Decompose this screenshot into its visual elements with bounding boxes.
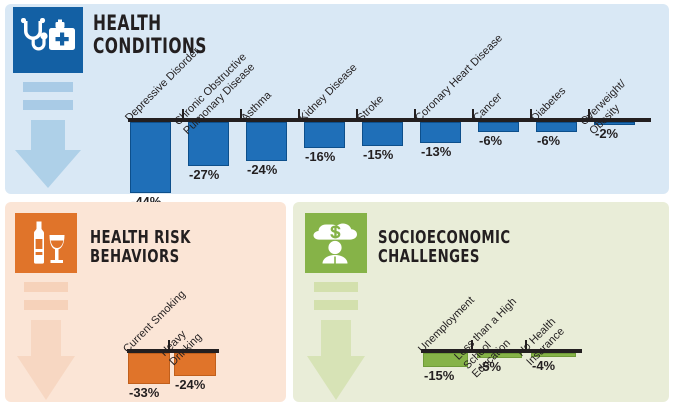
wine-bottle-glass-icon xyxy=(15,213,77,273)
chart-bar-value: -24% xyxy=(247,162,277,177)
down-arrow-health xyxy=(13,78,83,190)
chart-bar xyxy=(536,122,577,132)
chart-bar xyxy=(128,353,170,384)
panel-title-socio: SOCIOECONOMIC CHALLENGES xyxy=(378,228,511,267)
chart-bar-value: -13% xyxy=(421,144,451,159)
chart-bar-value: -16% xyxy=(305,149,335,164)
chart-socioeconomic-challenges: -15%Unemployment-5%Less than a High Scho… xyxy=(421,349,582,401)
down-arrow-risk xyxy=(15,278,77,402)
infographic-root: HEALTH CONDITIONS -44%Depressive Disorde… xyxy=(0,0,674,406)
chart-bar xyxy=(478,122,519,132)
chart-health-conditions: -44%Depressive Disorder-27%Chronic Obstr… xyxy=(128,118,651,188)
person-money-thought-icon xyxy=(305,213,367,273)
chart-bar xyxy=(304,122,345,148)
chart-bar xyxy=(130,122,171,193)
chart-bar xyxy=(420,122,461,143)
chart-bar-value: -33% xyxy=(129,385,159,400)
chart-bar-value: -24% xyxy=(175,377,205,392)
chart-bar-value: -15% xyxy=(363,147,393,162)
chart-bar xyxy=(362,122,403,146)
chart-bar-value: -27% xyxy=(189,167,219,182)
stethoscope-first-aid-kit-icon xyxy=(13,7,83,73)
chart-bar xyxy=(246,122,287,161)
chart-bar-value: -15% xyxy=(424,368,454,383)
chart-bar-value: -6% xyxy=(537,133,560,148)
panel-title-risk: HEALTH RISK BEHAVIORS xyxy=(90,228,191,267)
down-arrow-socio xyxy=(305,278,367,402)
chart-bar-value: -6% xyxy=(479,133,502,148)
chart-health-risk-behaviors: -33%Current Smoking-24%Heavy Drinking xyxy=(127,349,219,401)
